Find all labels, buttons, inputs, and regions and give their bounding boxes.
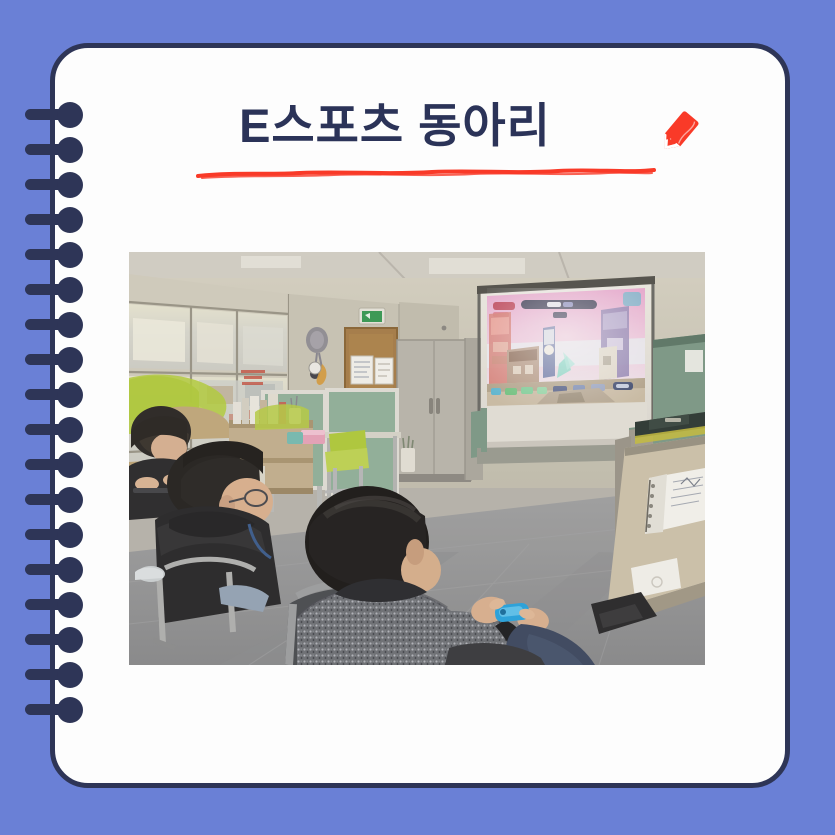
- page-title: E스포츠 동아리: [130, 95, 660, 157]
- pencil-icon: [645, 101, 709, 165]
- title-underline: [196, 167, 656, 181]
- poster-canvas: E스포츠 동아리: [0, 0, 835, 835]
- title-block: E스포츠 동아리: [130, 95, 705, 195]
- club-activity-photo: [129, 252, 705, 665]
